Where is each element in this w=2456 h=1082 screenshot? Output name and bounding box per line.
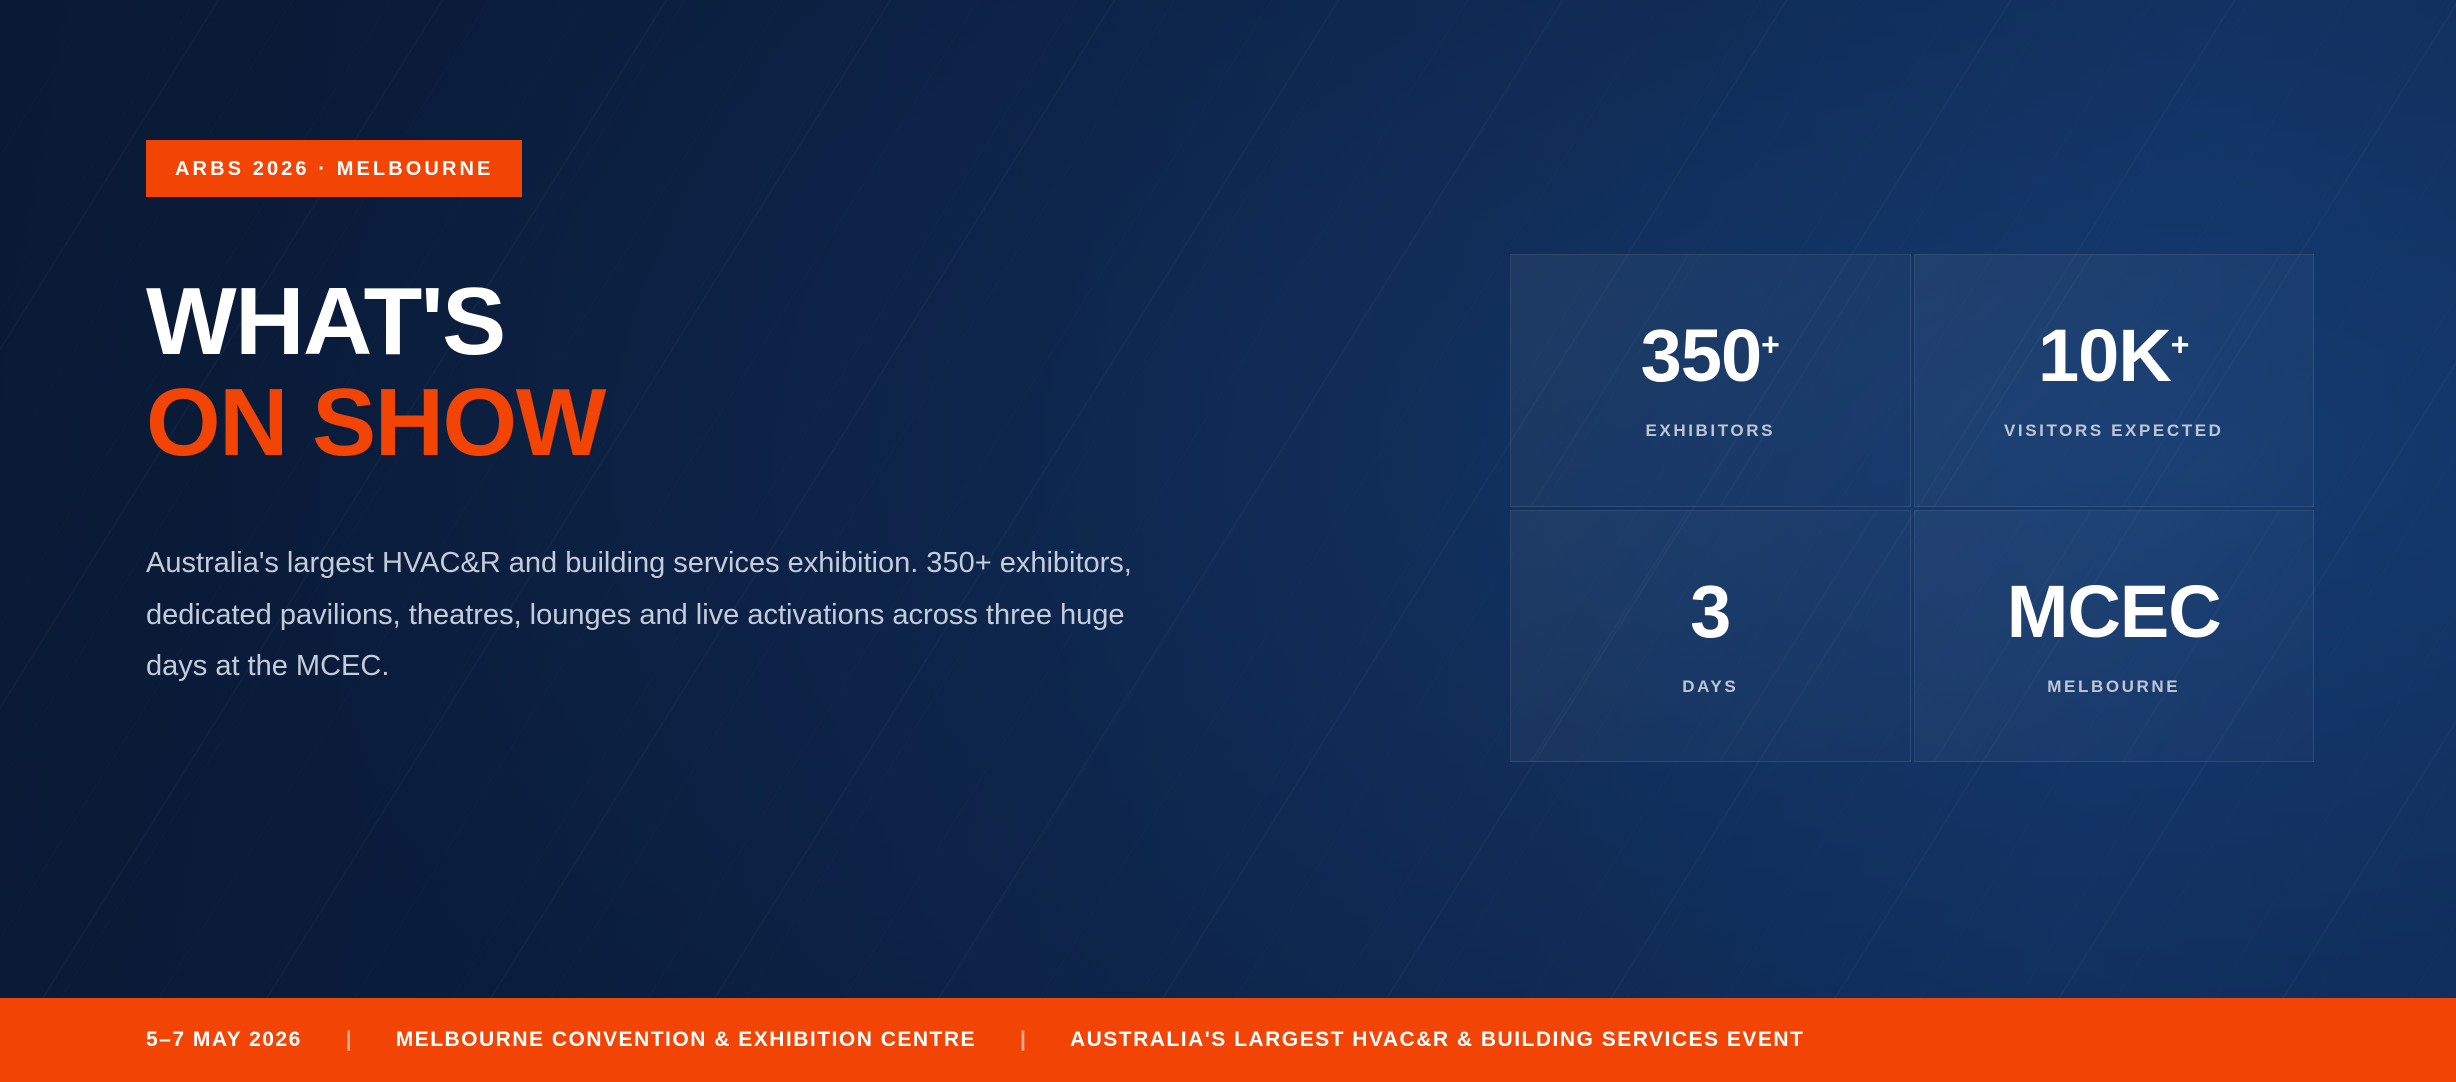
hero-text-column: ARBS 2026 · MELBOURNE WHAT'S ON SHOW Aus… — [146, 140, 1306, 693]
stat-number: 3 — [1690, 570, 1730, 653]
footer-tagline: AUSTRALIA'S LARGEST HVAC&R & BUILDING SE… — [1070, 1028, 1804, 1052]
stat-value: MCEC — [2007, 575, 2221, 649]
page-title: WHAT'S ON SHOW — [146, 275, 1306, 470]
footer-info-bar: 5–7 MAY 2026 | MELBOURNE CONVENTION & EX… — [0, 998, 2456, 1082]
stat-superscript: + — [2171, 327, 2190, 363]
stat-superscript: + — [1761, 327, 1780, 363]
stat-value: 3 — [1690, 575, 1730, 649]
stat-number: MCEC — [2007, 570, 2221, 653]
footer-dates: 5–7 MAY 2026 — [146, 1028, 302, 1052]
stat-card-venue: MCEC MELBOURNE — [1914, 510, 2315, 763]
headline-line-2: ON SHOW — [146, 376, 1306, 470]
stat-card-days: 3 DAYS — [1510, 510, 1911, 763]
stat-value: 350+ — [1641, 319, 1780, 393]
stat-number: 350 — [1641, 314, 1761, 397]
stat-card-exhibitors: 350+ EXHIBITORS — [1510, 254, 1911, 507]
stat-label: MELBOURNE — [2047, 677, 2180, 697]
stat-value: 10K+ — [2038, 319, 2189, 393]
stat-card-visitors: 10K+ VISITORS EXPECTED — [1914, 254, 2315, 507]
footer-separator-1: | — [302, 1028, 396, 1052]
stat-label: EXHIBITORS — [1645, 421, 1775, 441]
footer-venue: MELBOURNE CONVENTION & EXHIBITION CENTRE — [396, 1028, 976, 1052]
hero-description: Australia's largest HVAC&R and building … — [146, 538, 1176, 693]
stat-label: VISITORS EXPECTED — [2004, 421, 2224, 441]
hero-banner: ARBS 2026 · MELBOURNE WHAT'S ON SHOW Aus… — [0, 0, 2456, 1082]
event-eyebrow-badge: ARBS 2026 · MELBOURNE — [146, 140, 522, 197]
stat-number: 10K — [2038, 314, 2171, 397]
footer-separator-2: | — [976, 1028, 1070, 1052]
stat-label: DAYS — [1682, 677, 1738, 697]
headline-line-1: WHAT'S — [146, 275, 1306, 369]
stats-grid: 350+ EXHIBITORS 10K+ VISITORS EXPECTED 3… — [1510, 254, 2314, 762]
